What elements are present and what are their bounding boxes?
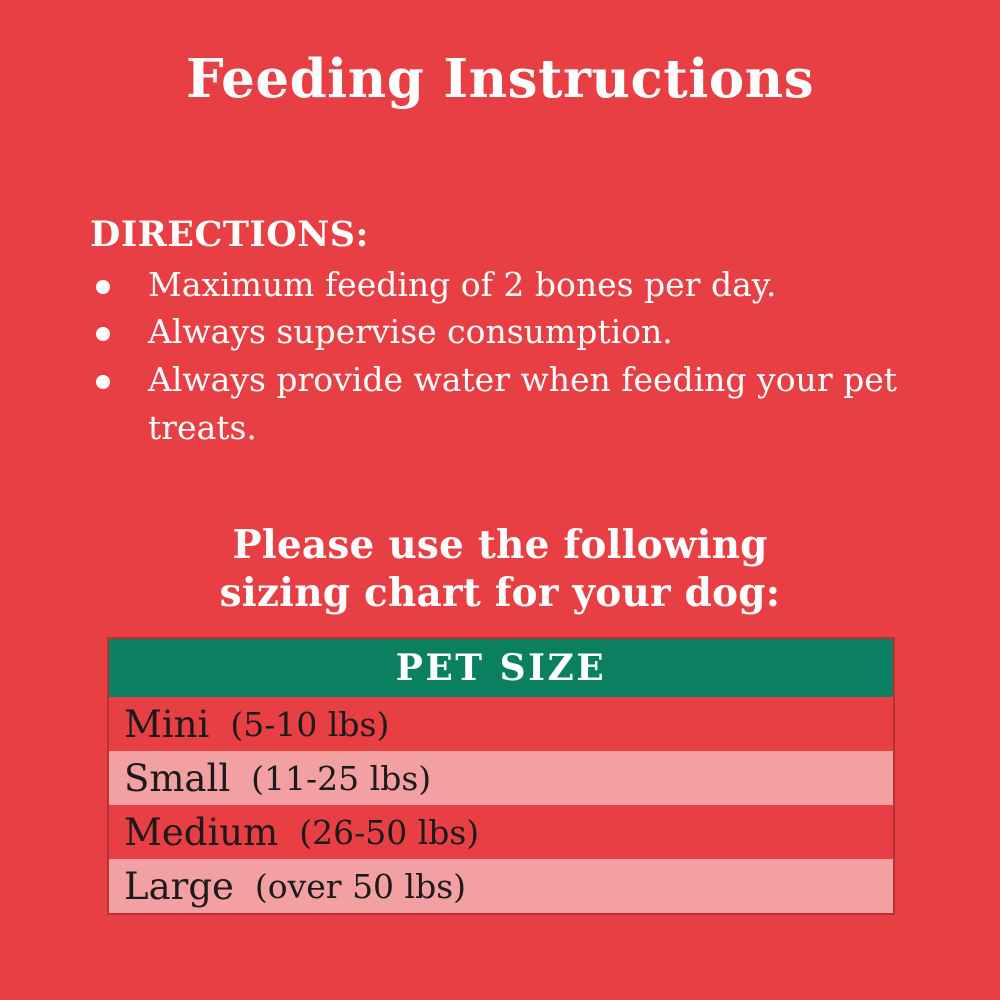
pet-size-table-header: PET SIZE [109, 639, 893, 697]
table-row: Large (over 50 lbs) [109, 859, 893, 913]
table-row: Small (11-25 lbs) [109, 751, 893, 805]
feeding-instructions-panel: Feeding Instructions DIRECTIONS: Maximum… [0, 0, 1000, 1000]
page-title: Feeding Instructions [0, 52, 1000, 108]
bullet-dot-icon [96, 375, 110, 389]
sizing-chart-intro-line2: sizing chart for your dog: [0, 570, 1000, 618]
table-cell-weight-range: (5-10 lbs) [209, 705, 389, 744]
list-item-text: Always supervise consumption. [148, 312, 673, 351]
sizing-chart-intro: Please use the following sizing chart fo… [0, 522, 1000, 617]
list-item-text: Maximum feeding of 2 bones per day. [148, 265, 777, 304]
directions-list: Maximum feeding of 2 bones per day. Alwa… [90, 261, 920, 452]
sizing-chart-intro-line1: Please use the following [0, 522, 1000, 570]
table-cell-weight-range: (over 50 lbs) [234, 867, 466, 906]
list-item: Always provide water when feeding your p… [90, 356, 920, 452]
table-cell-weight-range: (26-50 lbs) [278, 813, 479, 852]
bullet-dot-icon [96, 327, 110, 341]
table-row: Mini (5-10 lbs) [109, 697, 893, 751]
list-item: Maximum feeding of 2 bones per day. [90, 261, 920, 309]
pet-size-table: PET SIZE Mini (5-10 lbs) Small (11-25 lb… [107, 637, 895, 915]
directions-heading: DIRECTIONS: [90, 216, 920, 255]
table-row: Medium (26-50 lbs) [109, 805, 893, 859]
table-cell-size-label: Small [124, 757, 230, 800]
table-cell-size-label: Mini [124, 703, 209, 746]
table-cell-size-label: Medium [124, 811, 278, 854]
bullet-dot-icon [96, 280, 110, 294]
list-item: Always supervise consumption. [90, 308, 920, 356]
table-cell-size-label: Large [124, 865, 234, 908]
list-item-text: Always provide water when feeding your p… [148, 360, 897, 447]
table-cell-weight-range: (11-25 lbs) [230, 759, 431, 798]
directions-section: DIRECTIONS: Maximum feeding of 2 bones p… [90, 216, 920, 452]
